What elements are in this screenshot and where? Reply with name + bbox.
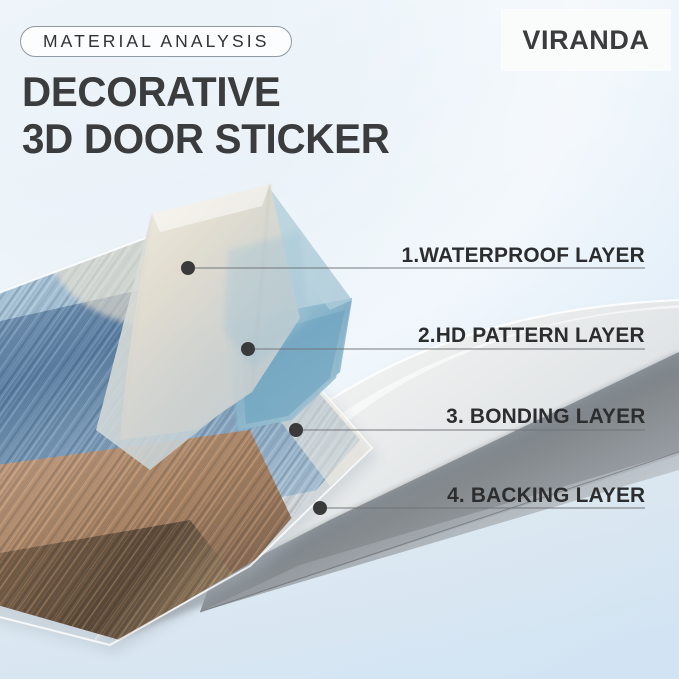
callout-labels: 1.WATERPROOF LAYER 2.HD PATTERN LAYER 3.… — [0, 0, 679, 679]
callout-label-waterproof-layer: 1.WATERPROOF LAYER — [402, 243, 645, 268]
callout-label-bonding-layer: 3. BONDING LAYER — [446, 404, 645, 429]
callout-label-backing-layer: 4. BACKING LAYER — [447, 483, 645, 508]
callout-label-hd-pattern-layer: 2.HD PATTERN LAYER — [418, 323, 645, 348]
poster-canvas: MATERIAL ANALYSIS DECORATIVE 3D DOOR STI… — [0, 0, 679, 679]
